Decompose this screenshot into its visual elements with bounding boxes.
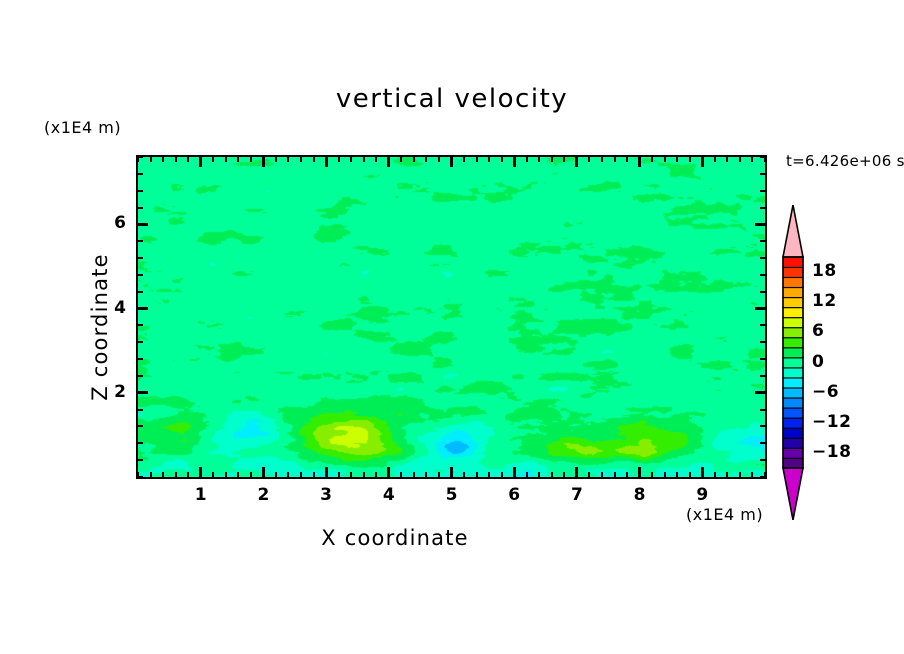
axis-tick bbox=[463, 157, 465, 162]
axis-tick bbox=[150, 157, 152, 162]
axis-tick bbox=[760, 156, 765, 158]
axis-tick bbox=[187, 472, 189, 477]
axis-tick bbox=[199, 157, 202, 167]
axis-tick bbox=[138, 476, 143, 478]
axis-tick bbox=[450, 157, 453, 167]
colorbar-tick-label: 6 bbox=[812, 321, 824, 341]
axis-tick bbox=[538, 157, 540, 162]
axis-tick bbox=[701, 157, 704, 167]
x-tick-label: 9 bbox=[687, 485, 717, 505]
axis-tick bbox=[638, 157, 641, 167]
axis-tick bbox=[199, 467, 202, 477]
axis-tick bbox=[714, 472, 716, 477]
figure-canvas: vertical velocity (x1E4 m) t=6.426e+06 s… bbox=[0, 0, 904, 654]
axis-tick bbox=[287, 157, 289, 162]
x-tick-label: 3 bbox=[311, 485, 341, 505]
colorbar-band bbox=[783, 277, 803, 287]
y-tick-label: 6 bbox=[96, 213, 126, 233]
axis-tick bbox=[387, 467, 390, 477]
axis-tick bbox=[450, 467, 453, 477]
colorbar-band bbox=[783, 368, 803, 378]
axis-tick bbox=[138, 324, 143, 326]
axis-tick bbox=[651, 472, 653, 477]
axis-tick bbox=[350, 157, 352, 162]
colorbar-band bbox=[783, 347, 803, 357]
colorbar-tick-label: −18 bbox=[812, 442, 851, 462]
axis-tick bbox=[225, 472, 227, 477]
colorbar-band bbox=[783, 357, 803, 367]
axis-tick bbox=[413, 157, 415, 162]
axis-tick bbox=[664, 472, 666, 477]
axis-tick bbox=[287, 472, 289, 477]
page-title: vertical velocity bbox=[0, 84, 904, 114]
colorbar-band bbox=[783, 337, 803, 347]
axis-tick bbox=[413, 472, 415, 477]
axis-tick bbox=[760, 409, 765, 411]
y-tick-label: 4 bbox=[96, 298, 126, 318]
colorbar-under-cap bbox=[783, 468, 803, 520]
axis-tick bbox=[726, 472, 728, 477]
axis-tick bbox=[689, 472, 691, 477]
colorbar-band bbox=[783, 327, 803, 337]
axis-tick bbox=[338, 157, 340, 162]
colorbar-band bbox=[783, 378, 803, 388]
colorbar-tick-label: 0 bbox=[812, 352, 824, 372]
axis-tick bbox=[138, 240, 143, 242]
axis-tick bbox=[664, 157, 666, 162]
axis-tick bbox=[138, 307, 148, 310]
velocity-field-canvas bbox=[138, 157, 765, 477]
axis-tick bbox=[563, 472, 565, 477]
axis-tick bbox=[526, 472, 528, 477]
axis-tick bbox=[626, 472, 628, 477]
axis-tick bbox=[676, 157, 678, 162]
axis-tick bbox=[513, 157, 516, 167]
x-tick-label: 1 bbox=[186, 485, 216, 505]
x-axis-title: X coordinate bbox=[0, 526, 790, 550]
axis-tick bbox=[526, 157, 528, 162]
colorbar-band bbox=[783, 297, 803, 307]
axis-tick bbox=[375, 472, 377, 477]
axis-tick bbox=[614, 472, 616, 477]
axis-tick bbox=[760, 459, 765, 461]
axis-tick bbox=[751, 157, 753, 162]
x-tick-label: 6 bbox=[499, 485, 529, 505]
axis-tick bbox=[476, 157, 478, 162]
axis-tick bbox=[138, 223, 148, 226]
colorbar-band bbox=[783, 317, 803, 327]
colorbar-band bbox=[783, 307, 803, 317]
axis-tick bbox=[538, 472, 540, 477]
axis-tick bbox=[588, 472, 590, 477]
axis-tick bbox=[400, 157, 402, 162]
colorbar-band bbox=[783, 257, 803, 267]
axis-tick bbox=[714, 157, 716, 162]
colorbar-tick-label: 18 bbox=[812, 261, 837, 281]
x-tick-label: 2 bbox=[248, 485, 278, 505]
colorbar-band bbox=[783, 267, 803, 277]
axis-tick bbox=[175, 157, 177, 162]
axis-tick bbox=[138, 391, 148, 394]
x-tick-label: 8 bbox=[625, 485, 655, 505]
axis-tick bbox=[138, 291, 143, 293]
axis-tick bbox=[325, 157, 328, 167]
axis-tick bbox=[488, 157, 490, 162]
axis-tick bbox=[225, 157, 227, 162]
colorbar-band bbox=[783, 448, 803, 458]
colorbar-band bbox=[783, 458, 803, 468]
axis-tick bbox=[751, 472, 753, 477]
axis-tick bbox=[701, 467, 704, 477]
axis-tick bbox=[601, 472, 603, 477]
axis-tick bbox=[638, 467, 641, 477]
axis-tick bbox=[175, 472, 177, 477]
axis-tick bbox=[138, 459, 143, 461]
axis-tick bbox=[760, 476, 765, 478]
axis-tick bbox=[760, 274, 765, 276]
axis-tick bbox=[300, 157, 302, 162]
y-axis-title: Z coordinate bbox=[88, 217, 112, 437]
axis-tick bbox=[138, 358, 143, 360]
colorbar-band bbox=[783, 428, 803, 438]
axis-tick bbox=[425, 472, 427, 477]
axis-tick bbox=[425, 157, 427, 162]
axis-tick bbox=[760, 341, 765, 343]
axis-tick bbox=[138, 425, 143, 427]
axis-tick bbox=[325, 467, 328, 477]
axis-tick bbox=[563, 157, 565, 162]
axis-tick bbox=[250, 472, 252, 477]
contour-plot-area bbox=[136, 155, 767, 479]
axis-tick bbox=[760, 173, 765, 175]
axis-tick bbox=[338, 472, 340, 477]
axis-tick bbox=[760, 240, 765, 242]
axis-tick bbox=[162, 157, 164, 162]
axis-tick bbox=[350, 472, 352, 477]
axis-tick bbox=[187, 157, 189, 162]
timestamp-annotation: t=6.426e+06 s bbox=[786, 152, 904, 170]
axis-tick bbox=[689, 157, 691, 162]
axis-tick bbox=[739, 472, 741, 477]
axis-tick bbox=[275, 157, 277, 162]
axis-tick bbox=[760, 291, 765, 293]
axis-tick bbox=[651, 157, 653, 162]
axis-tick bbox=[262, 157, 265, 167]
axis-tick bbox=[755, 391, 765, 394]
axis-tick bbox=[760, 324, 765, 326]
axis-tick bbox=[313, 157, 315, 162]
colorbar-gradient bbox=[780, 205, 806, 520]
x-tick-label: 7 bbox=[562, 485, 592, 505]
axis-tick bbox=[138, 341, 143, 343]
axis-tick bbox=[138, 190, 143, 192]
axis-tick bbox=[237, 157, 239, 162]
axis-tick bbox=[138, 173, 143, 175]
axis-tick bbox=[138, 375, 143, 377]
colorbar-band bbox=[783, 287, 803, 297]
axis-tick bbox=[262, 467, 265, 477]
colorbar-band bbox=[783, 418, 803, 428]
axis-tick bbox=[760, 190, 765, 192]
y-axis-unit-label: (x1E4 m) bbox=[44, 118, 121, 137]
axis-tick bbox=[614, 157, 616, 162]
axis-tick bbox=[760, 207, 765, 209]
axis-tick bbox=[760, 257, 765, 259]
colorbar-band bbox=[783, 438, 803, 448]
axis-tick bbox=[755, 307, 765, 310]
axis-tick bbox=[588, 157, 590, 162]
axis-tick bbox=[626, 157, 628, 162]
axis-tick bbox=[162, 472, 164, 477]
x-tick-label: 5 bbox=[437, 485, 467, 505]
colorbar-tick-label: −6 bbox=[812, 382, 839, 402]
axis-tick bbox=[726, 157, 728, 162]
axis-tick bbox=[575, 467, 578, 477]
axis-tick bbox=[676, 472, 678, 477]
colorbar-band bbox=[783, 388, 803, 398]
y-tick-label: 2 bbox=[96, 382, 126, 402]
axis-tick bbox=[212, 472, 214, 477]
axis-tick bbox=[488, 472, 490, 477]
axis-tick bbox=[150, 472, 152, 477]
axis-tick bbox=[237, 472, 239, 477]
axis-tick bbox=[551, 157, 553, 162]
axis-tick bbox=[438, 472, 440, 477]
colorbar-band bbox=[783, 408, 803, 418]
axis-tick bbox=[739, 157, 741, 162]
axis-tick bbox=[250, 157, 252, 162]
axis-tick bbox=[275, 472, 277, 477]
axis-tick bbox=[138, 409, 143, 411]
axis-tick bbox=[501, 157, 503, 162]
x-tick-label: 4 bbox=[374, 485, 404, 505]
axis-tick bbox=[755, 223, 765, 226]
colorbar-tick-label: −12 bbox=[812, 412, 851, 432]
axis-tick bbox=[313, 472, 315, 477]
colorbar bbox=[780, 205, 806, 520]
axis-tick bbox=[363, 157, 365, 162]
axis-tick bbox=[760, 442, 765, 444]
axis-tick bbox=[363, 472, 365, 477]
axis-tick bbox=[300, 472, 302, 477]
axis-tick bbox=[551, 472, 553, 477]
colorbar-tick-label: 12 bbox=[812, 291, 837, 311]
colorbar-over-cap bbox=[783, 205, 803, 257]
axis-tick bbox=[387, 157, 390, 167]
axis-tick bbox=[375, 157, 377, 162]
axis-tick bbox=[138, 274, 143, 276]
axis-tick bbox=[501, 472, 503, 477]
axis-tick bbox=[138, 442, 143, 444]
axis-tick bbox=[438, 157, 440, 162]
axis-tick bbox=[138, 257, 143, 259]
axis-tick bbox=[138, 156, 143, 158]
x-axis-unit-label: (x1E4 m) bbox=[686, 505, 763, 524]
axis-tick bbox=[575, 157, 578, 167]
axis-tick bbox=[760, 425, 765, 427]
axis-tick bbox=[476, 472, 478, 477]
axis-tick bbox=[212, 157, 214, 162]
axis-tick bbox=[400, 472, 402, 477]
axis-tick bbox=[513, 467, 516, 477]
axis-tick bbox=[138, 207, 143, 209]
axis-tick bbox=[760, 375, 765, 377]
axis-tick bbox=[760, 358, 765, 360]
colorbar-band bbox=[783, 398, 803, 408]
axis-tick bbox=[463, 472, 465, 477]
axis-tick bbox=[601, 157, 603, 162]
